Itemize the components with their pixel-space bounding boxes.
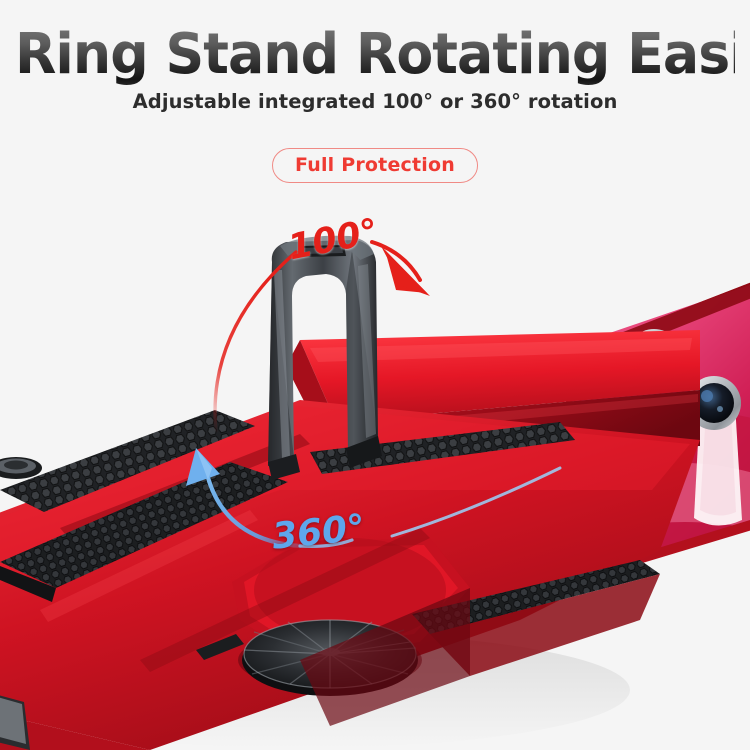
product-photo [0,190,750,750]
page-subtitle: Adjustable integrated 100° or 360° rotat… [0,90,750,113]
product-marketing-banner: Ring Stand Rotating Easily Adjustable in… [0,0,750,750]
status-badge: Full Protection [272,148,478,183]
page-title: Ring Stand Rotating Easily [15,22,735,87]
